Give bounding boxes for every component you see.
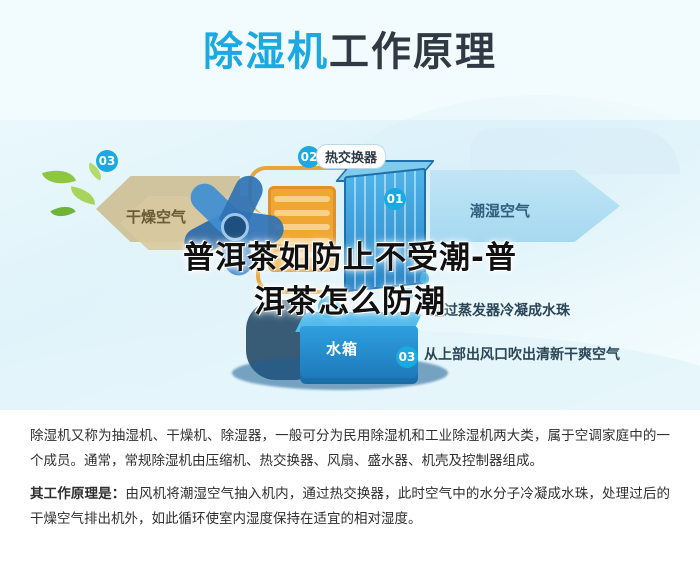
overlay-headline-line2: 洱茶怎么防潮 [0,280,700,324]
article-body: 除湿机又称为抽湿机、干燥机、除湿器，一般可分为民用除湿机和工业除湿机两大类，属于… [0,410,700,566]
diagram-title-primary: 除湿机 [203,29,329,75]
label-outlet-air: 从上部出风口吹出清新干爽空气 [424,344,620,364]
diagram-title: 除湿机工作原理 [0,26,700,78]
label-dry-air: 干燥空气 [126,206,186,227]
article-paragraph-2-label: 其工作原理是： [30,486,125,502]
article-paragraph-2-text: 由风机将潮湿空气抽入机内，通过热交换器，此时空气中的水分子冷凝成水珠，处理过后的… [30,486,670,527]
water-tank-label: 水箱 [326,338,358,359]
article-paragraph-2: 其工作原理是：由风机将潮湿空气抽入机内，通过热交换器，此时空气中的水分子冷凝成水… [30,482,670,532]
label-heat-exchanger: 热交换器 [316,144,386,169]
article-paragraph-1: 除湿机又称为抽湿机、干燥机、除湿器，一般可分为民用除湿机和工业除湿机两大类，属于… [30,424,670,474]
overlay-headline-line1: 普洱茶如防止不受潮-普 [0,236,700,280]
diagram-title-secondary: 工作原理 [329,29,497,75]
humid-air-stream [470,128,680,174]
badge-01: 01 [384,188,406,210]
badge-03: 03 [96,150,118,172]
page-root: 除湿机工作原理 [0,0,700,566]
badge-05: 03 [396,346,418,368]
dehumidifier-diagram: 除湿机工作原理 [0,0,700,410]
label-humid-air: 潮湿空气 [470,200,530,221]
overlay-headline: 普洱茶如防止不受潮-普 洱茶怎么防潮 [0,236,700,324]
